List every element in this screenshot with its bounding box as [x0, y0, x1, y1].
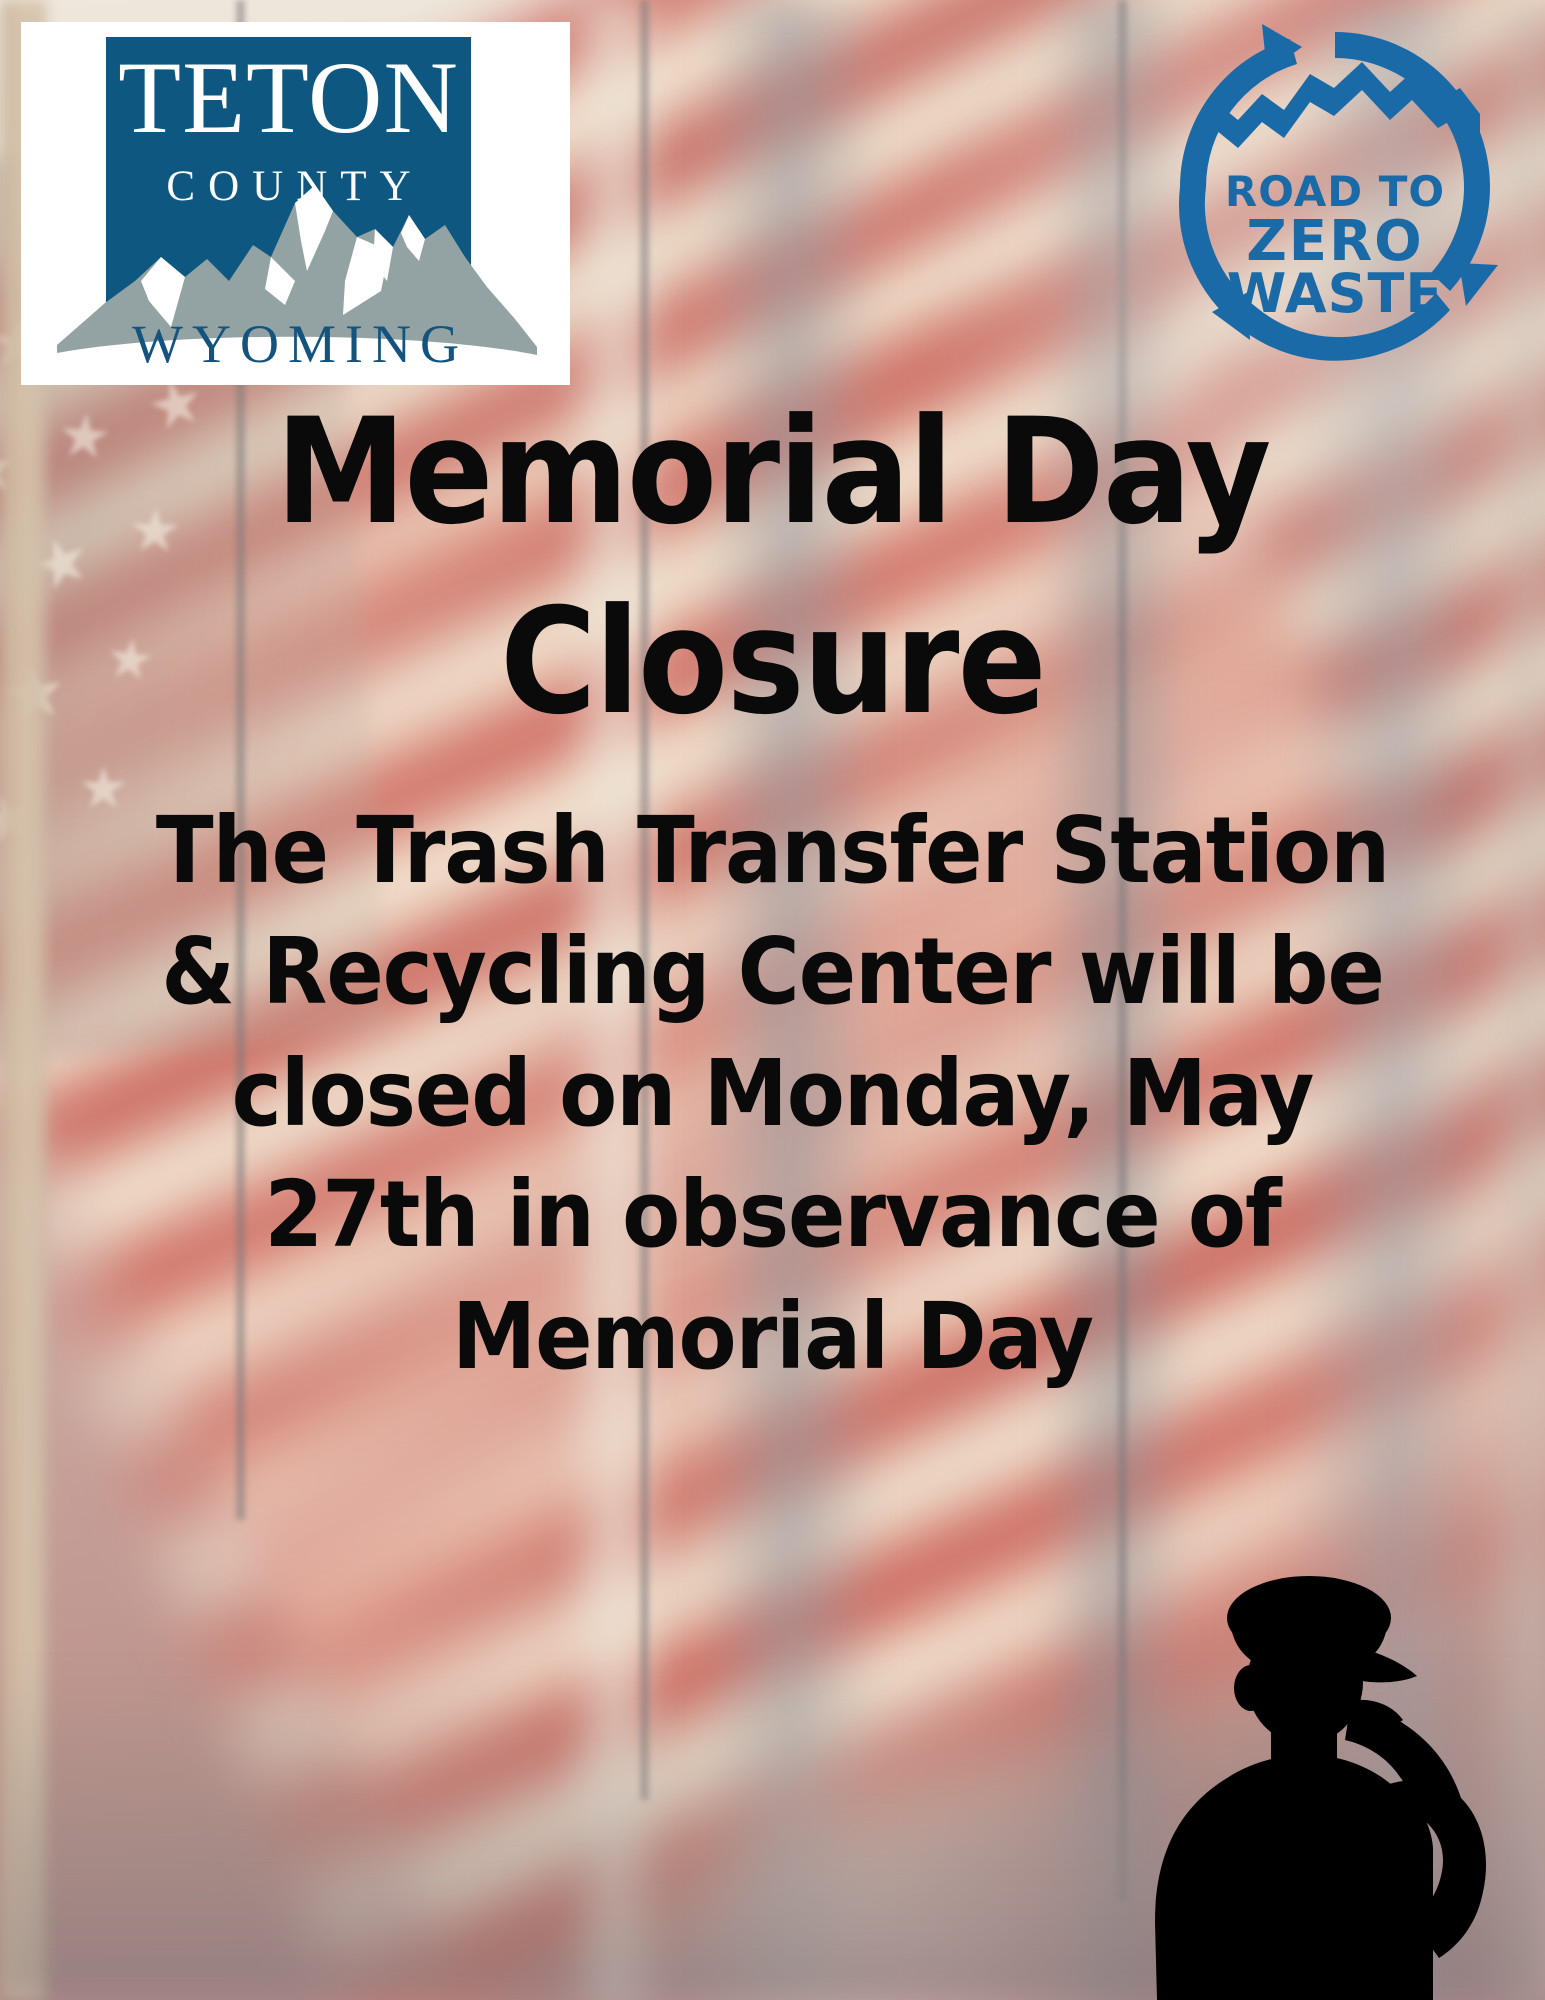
page-title: Memorial Day Closure: [77, 378, 1468, 758]
memorial-day-closure-poster: TETON COUNTY WYOMING: [0, 0, 1545, 2000]
body-text: The Trash Transfer Station & Recycling C…: [62, 790, 1483, 1397]
teton-county-logo: TETON COUNTY WYOMING: [21, 22, 570, 385]
saluting-soldier-silhouette: [1131, 1530, 1545, 2000]
body-line-3: closed on Monday, May: [75, 1033, 1471, 1154]
headline-line-2: Closure: [77, 568, 1468, 758]
road-to-zero-waste-logo: ROAD TO ZERO WASTE: [1150, 10, 1520, 370]
rtzw-line-waste: WASTE: [1227, 262, 1444, 325]
teton-logo-wyoming-text: WYOMING: [21, 317, 570, 371]
body-line-1: The Trash Transfer Station: [75, 790, 1471, 911]
body-line-4: 27th in observance of: [75, 1154, 1471, 1275]
body-line-5: Memorial Day: [75, 1276, 1471, 1397]
headline-line-1: Memorial Day: [77, 378, 1468, 568]
body-line-2: & Recycling Center will be: [75, 911, 1471, 1032]
teton-logo-teton-text: TETON: [106, 47, 471, 150]
